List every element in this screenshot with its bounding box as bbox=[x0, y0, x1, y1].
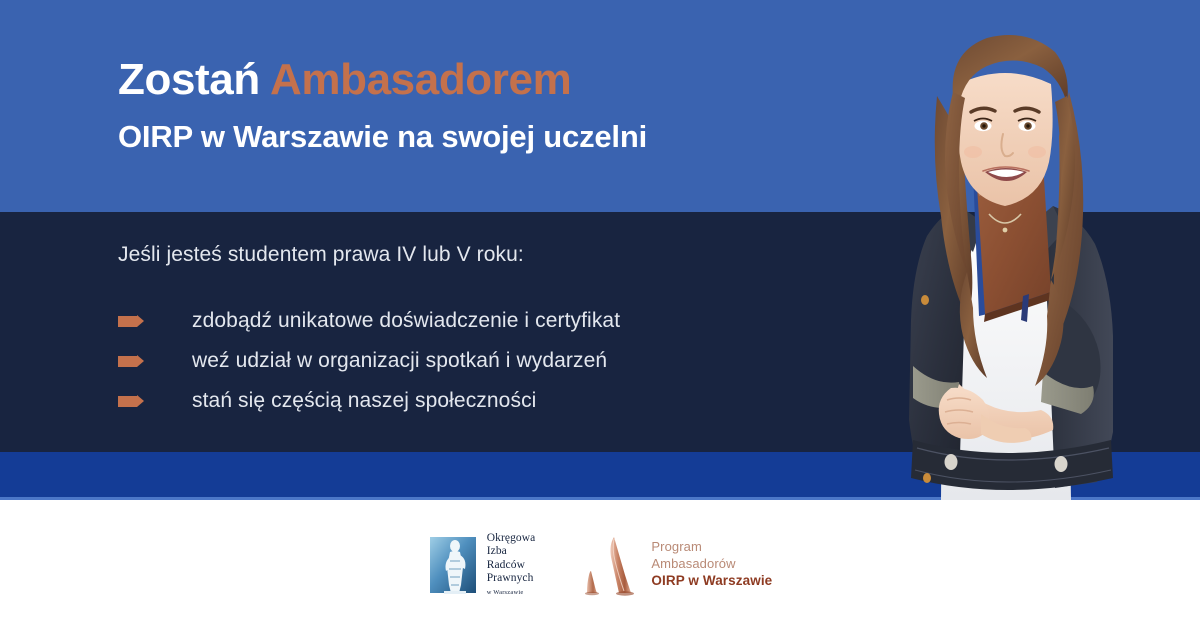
list-item-label: weź udział w organizacji spotkań i wydar… bbox=[192, 349, 607, 373]
logo-ambassador-program: Program Ambasadorów OIRP w Warszawie bbox=[581, 531, 772, 597]
ambassador-program-banner: Zostań Ambasadorem OIRP w Warszawie na s… bbox=[0, 0, 1200, 628]
logo-ambassador-line2: Ambasadorów bbox=[651, 555, 772, 572]
ambassador-monument-icon bbox=[581, 531, 645, 597]
body-copy-block: Jeśli jesteś studentem prawa IV lub V ro… bbox=[118, 243, 818, 421]
logo-oirp-line3: Radców bbox=[487, 559, 536, 572]
list-item: zdobądź unikatowe doświadczenie i certyf… bbox=[118, 301, 818, 341]
logo-oirp-line4: Prawnych bbox=[487, 572, 536, 585]
student-photo-illustration bbox=[855, 0, 1200, 500]
list-item-label: stań się częścią naszej społeczności bbox=[192, 389, 536, 413]
headline-secondary: OIRP w Warszawie na swojej uczelni bbox=[118, 118, 818, 155]
list-item: stań się częścią naszej społeczności bbox=[118, 381, 818, 421]
list-item-label: zdobądź unikatowe doświadczenie i certyf… bbox=[192, 309, 620, 333]
arrow-bullet-icon bbox=[118, 355, 144, 368]
arrow-bullet-icon bbox=[118, 315, 144, 328]
logo-ambassador-wordmark: Program Ambasadorów OIRP w Warszawie bbox=[651, 538, 772, 590]
headline-primary-accent: Ambasadorem bbox=[270, 55, 571, 104]
headline-primary-plain: Zostań bbox=[118, 55, 270, 104]
logo-ambassador-line3: OIRP w Warszawie bbox=[651, 572, 772, 590]
logo-oirp-wordmark: Okręgowa Izba Radców Prawnych w Warszawi… bbox=[487, 532, 536, 596]
intro-text: Jeśli jesteś studentem prawa IV lub V ro… bbox=[118, 243, 818, 267]
headline-primary: Zostań Ambasadorem bbox=[118, 55, 818, 104]
arrow-bullet-icon bbox=[118, 395, 144, 408]
oirp-statue-icon bbox=[428, 531, 478, 597]
logo-oirp-subline: w Warszawie bbox=[487, 589, 536, 597]
student-photo bbox=[855, 0, 1200, 500]
headline-block: Zostań Ambasadorem OIRP w Warszawie na s… bbox=[118, 55, 818, 155]
benefits-list: zdobądź unikatowe doświadczenie i certyf… bbox=[118, 301, 818, 421]
logo-ambassador-line1: Program bbox=[651, 538, 772, 555]
list-item: weź udział w organizacji spotkań i wydar… bbox=[118, 341, 818, 381]
logo-oirp-line1: Okręgowa bbox=[487, 532, 536, 545]
logo-oirp: Okręgowa Izba Radców Prawnych w Warszawi… bbox=[428, 531, 536, 597]
logo-oirp-line2: Izba bbox=[487, 545, 536, 558]
footer-logos: Okręgowa Izba Radców Prawnych w Warszawi… bbox=[0, 500, 1200, 628]
